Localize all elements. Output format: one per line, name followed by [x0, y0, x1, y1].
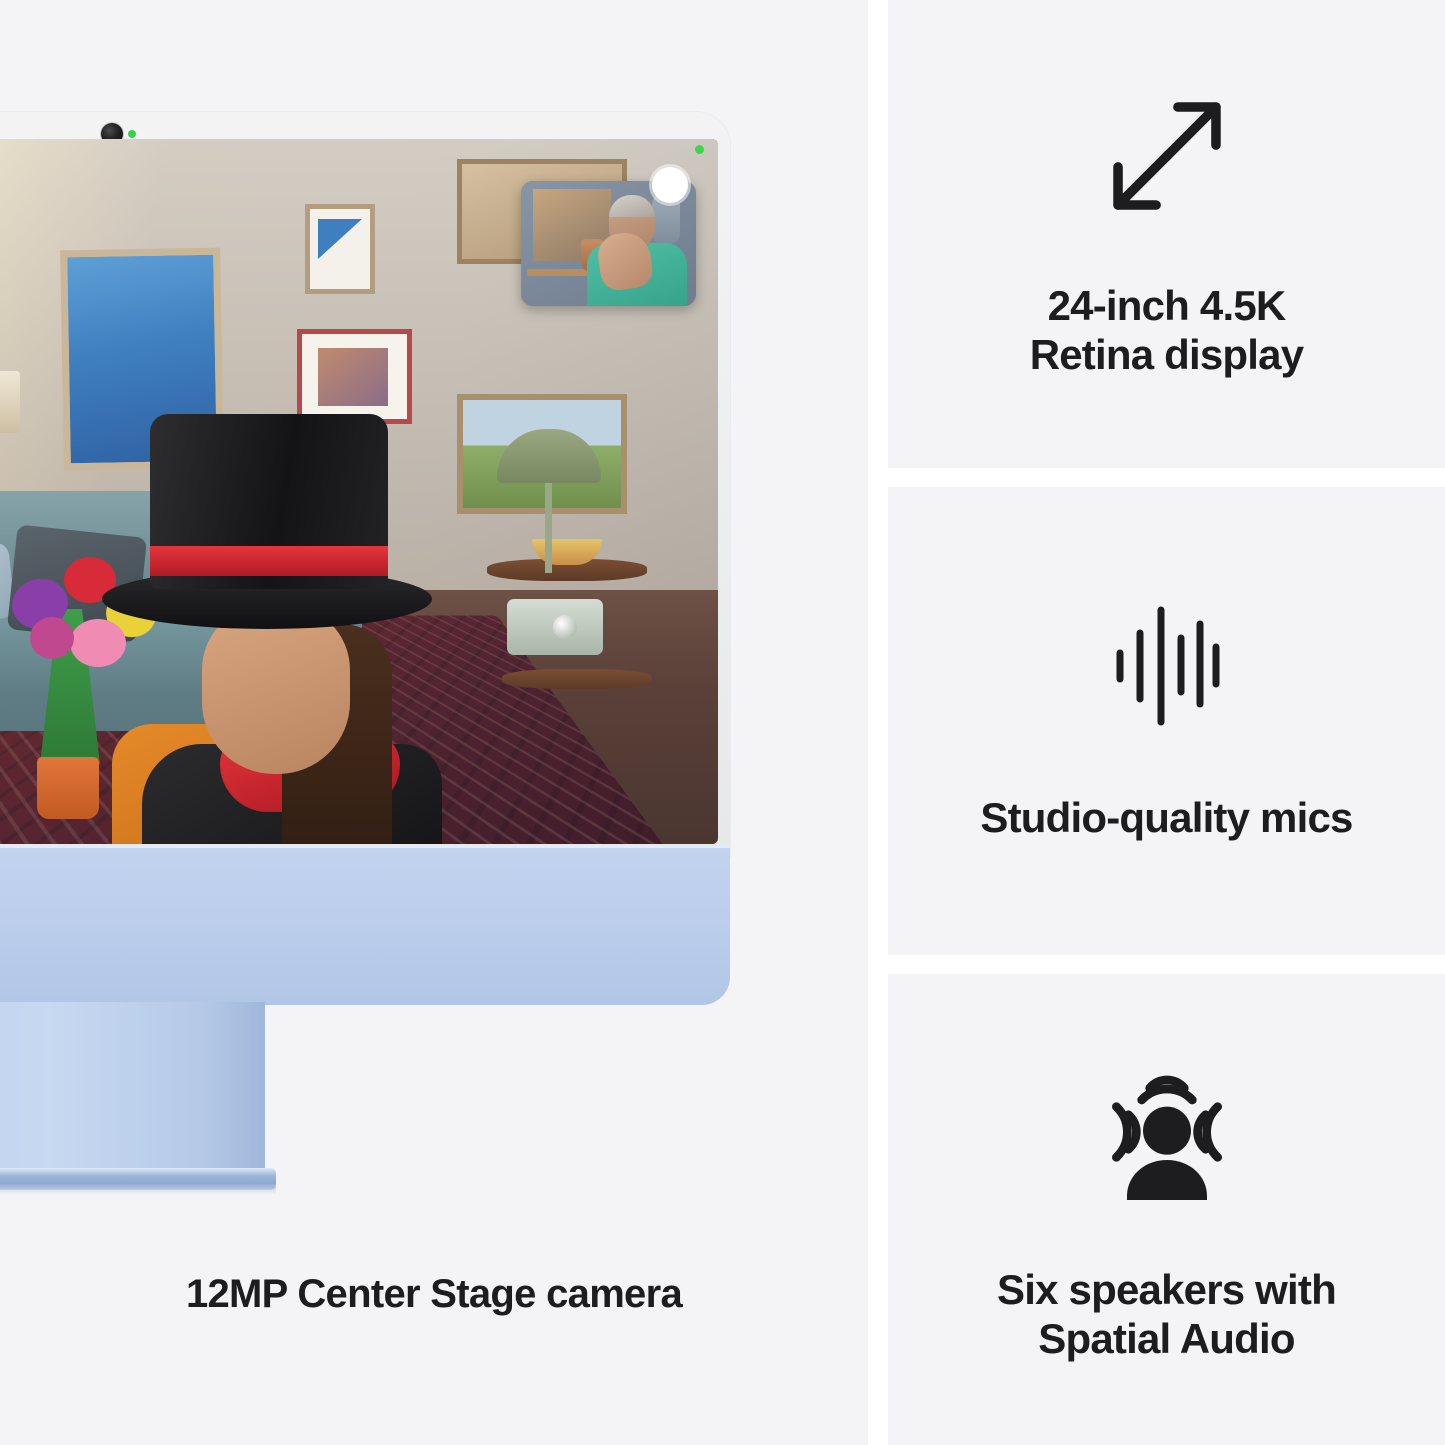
facetime-scene — [0, 139, 718, 844]
scene-top-hat-band — [150, 546, 388, 576]
imac-stand — [0, 1002, 265, 1184]
feature-tile-spatial-audio-label: Six speakers with Spatial Audio — [997, 1266, 1336, 1363]
audio-waveform-icon — [1112, 600, 1222, 730]
camera-caption: 12MP Center Stage camera — [0, 1272, 868, 1317]
feature-tile-spatial-audio: Six speakers with Spatial Audio — [888, 974, 1445, 1445]
scene-child-face — [202, 604, 350, 774]
spatial-audio-person-icon — [1087, 1056, 1247, 1216]
feature-tile-mics-label: Studio-quality mics — [980, 794, 1352, 843]
green-led-indicator-icon — [128, 130, 136, 138]
facetime-round-button[interactable] — [652, 167, 688, 203]
expand-diagonal-arrows-icon — [1099, 88, 1235, 224]
imac-device — [0, 112, 730, 982]
imac-chin — [0, 845, 730, 1005]
imac-showcase-panel: 12MP Center Stage camera — [0, 0, 868, 1445]
scene-framed-picture — [305, 204, 375, 294]
scene-flower-petal — [30, 617, 74, 659]
feature-tiles-panel: 24-inch 4.5K Retina display Studio-quali… — [888, 0, 1445, 1445]
scene-floor-lamp-shade — [0, 371, 20, 433]
feature-tile-display-label: 24-inch 4.5K Retina display — [1030, 282, 1304, 379]
feature-tile-display: 24-inch 4.5K Retina display — [888, 0, 1445, 468]
product-feature-page: 12MP Center Stage camera 24-inch 4.5K Re… — [0, 0, 1445, 1445]
scene-flower-pot — [37, 757, 99, 819]
imac-stand-shadow — [0, 1186, 276, 1195]
scene-child-magician — [102, 394, 572, 844]
imac-chin-highlight — [0, 845, 730, 848]
screen-green-indicator-icon — [695, 145, 704, 154]
imac-display — [0, 139, 718, 844]
feature-tile-mics: Studio-quality mics — [888, 487, 1445, 955]
